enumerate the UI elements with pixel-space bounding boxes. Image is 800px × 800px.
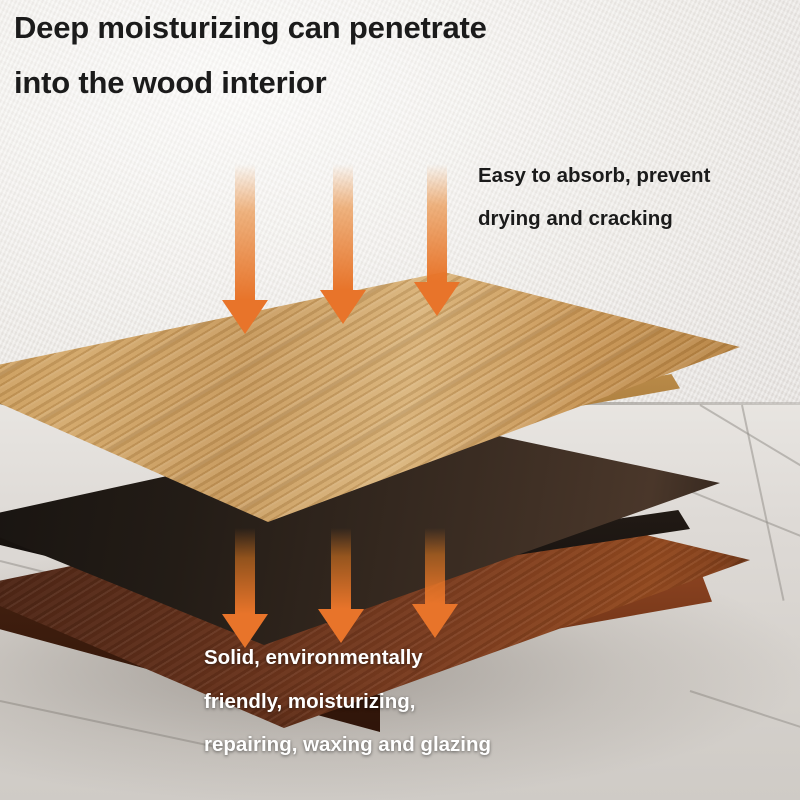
- downward-arrow-icon: [222, 528, 268, 648]
- downward-arrow-icon: [320, 164, 366, 324]
- headline-line-2: into the wood interior: [14, 67, 714, 98]
- callout-right-line-2: drying and cracking: [478, 209, 800, 230]
- callout-bottom-line-1: Solid, environmentally: [204, 648, 724, 669]
- product-infographic-image: Deep moisturizing can penetrate into the…: [0, 0, 800, 800]
- downward-arrow-icon: [222, 164, 268, 334]
- downward-arrow-icon: [318, 528, 364, 643]
- callout-bottom: Solid, environmentally friendly, moistur…: [204, 648, 724, 756]
- callout-right-line-1: Easy to absorb, prevent: [478, 166, 800, 187]
- callout-bottom-line-2: friendly, moisturizing,: [204, 692, 724, 713]
- downward-arrow-icon: [412, 528, 458, 638]
- callout-bottom-line-3: repairing, waxing and glazing: [204, 735, 724, 756]
- callout-right: Easy to absorb, prevent drying and crack…: [478, 166, 800, 229]
- headline-line-1: Deep moisturizing can penetrate: [14, 12, 714, 43]
- headline: Deep moisturizing can penetrate into the…: [14, 12, 714, 98]
- downward-arrow-icon: [414, 164, 460, 316]
